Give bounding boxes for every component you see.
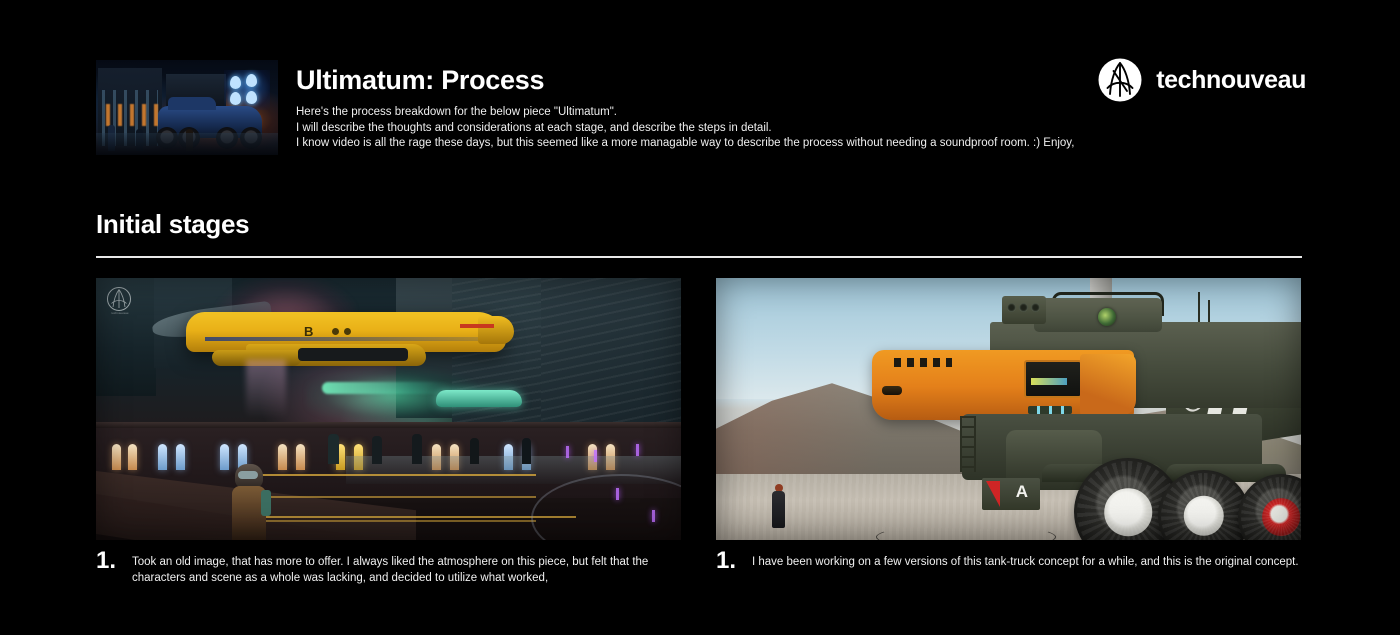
caption-text: I have been working on a few versions of… bbox=[752, 550, 1299, 572]
railing bbox=[256, 474, 536, 522]
description-line: I know video is all the rage these days,… bbox=[296, 136, 1306, 152]
technouveau-monogram-icon bbox=[1097, 57, 1143, 103]
caption-text: Took an old image, that has more to offe… bbox=[132, 550, 681, 586]
cab-vents bbox=[894, 358, 952, 367]
railing bbox=[246, 516, 576, 540]
light-beam bbox=[246, 360, 286, 418]
header-thumbnail bbox=[96, 60, 278, 155]
figure bbox=[470, 438, 479, 464]
caption-number: 1. bbox=[96, 550, 122, 586]
section-initial-stages: Initial stages bbox=[96, 210, 1302, 258]
lit-window bbox=[112, 444, 121, 470]
purple-light bbox=[566, 446, 569, 458]
cab-light-bar bbox=[1028, 406, 1072, 414]
ship-nose bbox=[478, 316, 514, 344]
lit-window bbox=[176, 444, 185, 470]
red-triangle-marking bbox=[986, 481, 1000, 507]
column-right: ✛ IV bbox=[716, 278, 1301, 586]
truck-cab bbox=[872, 350, 1134, 420]
light-streak bbox=[322, 382, 452, 394]
purple-light bbox=[652, 510, 655, 522]
purple-light bbox=[594, 450, 597, 462]
brand-wordmark: technouveau bbox=[1156, 68, 1306, 93]
section-title: Initial stages bbox=[96, 210, 1302, 239]
wheel-hub bbox=[1104, 488, 1152, 536]
section-divider bbox=[96, 256, 1302, 258]
lit-window bbox=[128, 444, 137, 470]
ship-port bbox=[344, 328, 351, 335]
ship-port bbox=[332, 328, 339, 335]
truck-optic-icon bbox=[1098, 308, 1116, 326]
transit-pod bbox=[436, 390, 522, 407]
hover-ship: B bbox=[186, 304, 506, 362]
truck-sensor-pod bbox=[1002, 296, 1046, 324]
artwork-watermark-icon: technouveau bbox=[106, 286, 132, 316]
ship-underside bbox=[298, 348, 408, 361]
caption-number: 1. bbox=[716, 550, 742, 572]
watermark-text: technouveau bbox=[100, 312, 140, 315]
caption-right: 1. I have been working on a few versions… bbox=[716, 550, 1301, 572]
artwork-city-scene[interactable]: B bbox=[96, 278, 681, 540]
truck-wheel bbox=[1238, 474, 1301, 540]
wheel-hub bbox=[1184, 496, 1224, 536]
cab-lamp bbox=[882, 386, 902, 395]
thumb-ground bbox=[96, 133, 278, 155]
character-visor bbox=[238, 471, 258, 479]
cab-windshield bbox=[1024, 360, 1082, 398]
figure bbox=[328, 434, 339, 464]
character-backpack bbox=[261, 490, 271, 516]
purple-light bbox=[636, 444, 639, 456]
figure bbox=[412, 434, 422, 464]
caption-left: 1. Took an old image, that has more to o… bbox=[96, 550, 681, 586]
artwork-tank-truck[interactable]: ✛ IV bbox=[716, 278, 1301, 540]
figure-body bbox=[772, 491, 785, 528]
purple-light bbox=[616, 488, 619, 500]
truck-letter-marking: A bbox=[1016, 482, 1028, 502]
column-left: B bbox=[96, 278, 681, 586]
brand-lockup[interactable]: technouveau bbox=[1097, 57, 1306, 103]
truck-id-plate: A bbox=[982, 478, 1040, 510]
wheel-hub bbox=[1262, 498, 1300, 536]
scale-figure bbox=[772, 484, 785, 528]
lit-window bbox=[220, 444, 229, 470]
figure bbox=[372, 436, 382, 464]
ship-red-stripe bbox=[460, 324, 494, 328]
ship-marking: B bbox=[304, 324, 313, 339]
lit-window bbox=[296, 444, 305, 470]
page-description: Here's the process breakdown for the bel… bbox=[296, 105, 1306, 152]
process-page: Ultimatum: Process Here's the process br… bbox=[0, 0, 1400, 635]
description-line: I will describe the thoughts and conside… bbox=[296, 121, 1306, 137]
thumb-warm-windows bbox=[106, 104, 158, 126]
figure bbox=[522, 438, 531, 464]
foreground-character bbox=[232, 464, 266, 540]
truck-ladder bbox=[960, 416, 976, 472]
description-line: Here's the process breakdown for the bel… bbox=[296, 105, 1306, 121]
lit-window bbox=[158, 444, 167, 470]
tank-truck: ✛ IV bbox=[866, 288, 1301, 538]
cab-snout bbox=[1080, 354, 1136, 416]
thumb-neon-sign-icon bbox=[224, 70, 270, 110]
content-columns: B bbox=[96, 278, 1302, 586]
lit-window bbox=[278, 444, 287, 470]
